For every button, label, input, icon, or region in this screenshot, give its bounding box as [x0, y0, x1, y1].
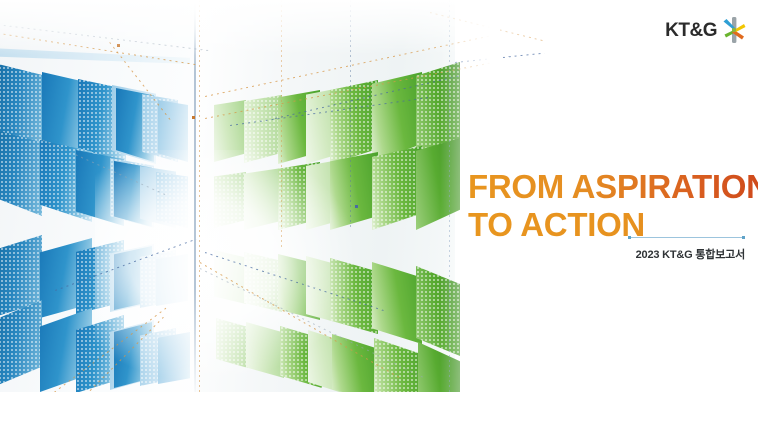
blade-green	[216, 318, 248, 368]
report-subtitle: 2023 KT&G 통합보고서	[0, 246, 745, 262]
corner-seam	[194, 0, 196, 400]
headline-line-2: TO ACTION	[468, 206, 758, 244]
ktng-logo[interactable]: KT&G	[665, 16, 747, 44]
guide-node	[355, 205, 358, 208]
guide-node	[192, 116, 195, 119]
report-cover: KT&G FROM ASPIRATION TO ACTION 2023 KT&G…	[0, 0, 765, 429]
corner-seam-dotted-orange	[199, 0, 200, 400]
blade-green	[214, 100, 246, 162]
headline-block: FROM ASPIRATION TO ACTION	[468, 168, 758, 244]
top-fade	[0, 0, 765, 55]
blade-green	[372, 146, 422, 230]
blade-green	[214, 172, 246, 228]
ktng-pinwheel-symbol-icon	[721, 16, 747, 44]
blade-green	[244, 168, 282, 230]
blade-green	[330, 152, 378, 230]
headline-line-1: FROM ASPIRATION	[468, 168, 758, 206]
logo-wordmark: KT&G	[665, 21, 717, 40]
blade-green	[372, 262, 422, 344]
blade-green	[244, 95, 282, 163]
blade-green	[246, 322, 284, 378]
headline-rule	[628, 237, 745, 238]
floor-plane	[0, 392, 470, 429]
